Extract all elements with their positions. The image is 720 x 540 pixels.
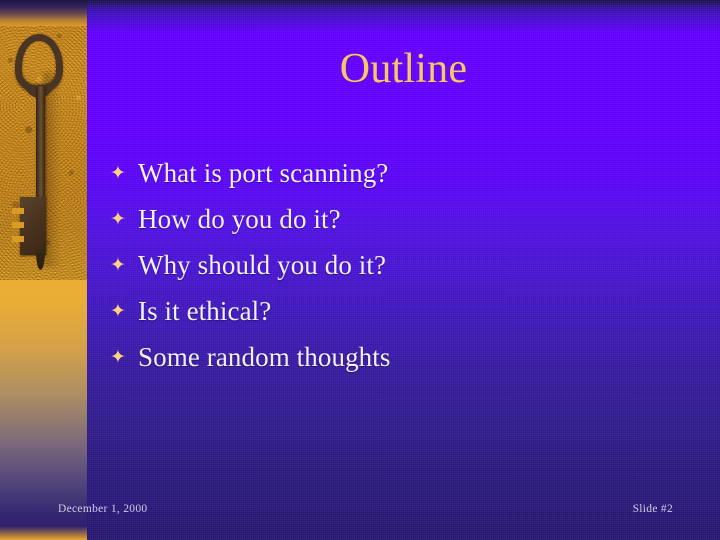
list-item-label: How do you do it?: [138, 204, 341, 234]
list-item: ✦ How do you do it?: [110, 204, 710, 250]
slide-title: Outline: [87, 48, 720, 90]
list-item-label: Why should you do it?: [138, 250, 386, 280]
presentation-slide: Outline ✦ What is port scanning? ✦ How d…: [0, 0, 720, 540]
star-bullet-icon: ✦: [110, 250, 138, 281]
star-bullet-icon: ✦: [110, 296, 138, 327]
star-bullet-icon: ✦: [110, 342, 138, 373]
footer-slide-number: Slide #2: [633, 503, 673, 515]
list-item: ✦ What is port scanning?: [110, 158, 710, 204]
panel-top-band: [0, 0, 87, 26]
key-tooth: [12, 222, 24, 228]
list-item-label: Some random thoughts: [138, 342, 391, 372]
footer-date: December 1, 2000: [58, 503, 147, 515]
key-shadow: [44, 72, 60, 267]
bullet-list: ✦ What is port scanning? ✦ How do you do…: [110, 158, 710, 388]
list-item: ✦ Is it ethical?: [110, 296, 710, 342]
key-tooth: [12, 236, 24, 242]
list-item: ✦ Why should you do it?: [110, 250, 710, 296]
left-decoration-panel: [0, 0, 87, 540]
star-bullet-icon: ✦: [110, 204, 138, 235]
star-bullet-icon: ✦: [110, 158, 138, 189]
antique-key-icon: [0, 12, 87, 280]
photo-bottom-fade: [0, 526, 87, 540]
list-item: ✦ Some random thoughts: [110, 342, 710, 388]
list-item-label: What is port scanning?: [138, 158, 388, 188]
key-tooth: [12, 208, 24, 214]
list-item-label: Is it ethical?: [138, 296, 271, 326]
